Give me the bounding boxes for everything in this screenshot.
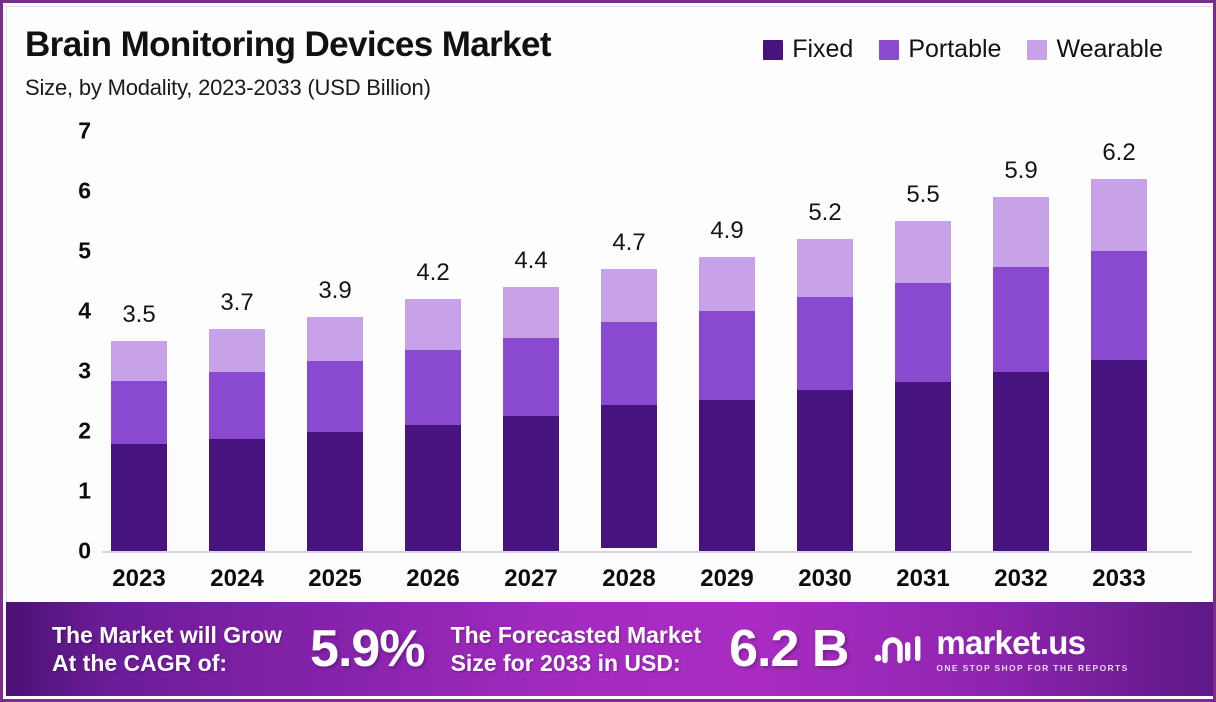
bar-segment-wearable[interactable]: [797, 239, 853, 297]
bar-group-2032[interactable]: 5.92032: [993, 551, 1049, 609]
bar-stack[interactable]: [307, 317, 363, 551]
bar-segment-fixed[interactable]: [405, 425, 461, 551]
legend-item-fixed[interactable]: Fixed: [763, 35, 853, 64]
bar-value-label: 5.5: [906, 181, 939, 209]
bar-value-label: 5.2: [808, 199, 841, 227]
bar-value-label: 4.7: [612, 229, 645, 257]
y-axis-tick-1: 1: [51, 478, 91, 505]
bar-value-label: 5.9: [1004, 157, 1037, 185]
bar-stack[interactable]: [1091, 179, 1147, 551]
bar-segment-wearable[interactable]: [503, 287, 559, 338]
chart-plot-area: 01234567 3.520233.720243.920254.220264.4…: [7, 115, 1216, 609]
bar-segment-portable[interactable]: [209, 372, 265, 439]
bar-group-2028[interactable]: 4.72028: [601, 551, 657, 609]
bar-value-label: 4.2: [416, 259, 449, 287]
bar-segment-portable[interactable]: [405, 350, 461, 425]
bar-segment-fixed[interactable]: [895, 382, 951, 551]
x-axis-tick-2031: 2031: [896, 565, 949, 593]
bar-group-2023[interactable]: 3.52023: [111, 551, 167, 609]
bar-segment-fixed[interactable]: [307, 432, 363, 551]
bar-segment-wearable[interactable]: [111, 341, 167, 381]
chart-legend: FixedPortableWearable: [763, 35, 1163, 64]
chart-header: Brain Monitoring Devices Market Size, by…: [7, 7, 1215, 115]
legend-item-wearable[interactable]: Wearable: [1027, 35, 1163, 64]
bar-group-2025[interactable]: 3.92025: [307, 551, 363, 609]
bar-group-2024[interactable]: 3.72024: [209, 551, 265, 609]
forecast-size-label: The Forecasted Market Size for 2033 in U…: [451, 621, 702, 677]
y-axis-tick-5: 5: [51, 238, 91, 265]
x-axis-tick-2032: 2032: [994, 565, 1047, 593]
bar-segment-portable[interactable]: [601, 322, 657, 405]
bar-stack[interactable]: [111, 341, 167, 551]
y-axis-tick-7: 7: [51, 118, 91, 145]
bar-segment-wearable[interactable]: [993, 197, 1049, 267]
bar-stack[interactable]: [405, 299, 461, 551]
bar-value-label: 3.7: [220, 289, 253, 317]
chart-card: Brain Monitoring Devices Market Size, by…: [6, 6, 1216, 608]
bar-stack[interactable]: [993, 197, 1049, 551]
bar-value-label: 6.2: [1102, 139, 1135, 167]
brand-text: market.us ONE STOP SHOP FOR THE REPORTS: [936, 626, 1128, 673]
y-axis-tick-3: 3: [51, 358, 91, 385]
x-axis-tick-2030: 2030: [798, 565, 851, 593]
x-axis-tick-2023: 2023: [112, 565, 165, 593]
bar-stack[interactable]: [797, 239, 853, 551]
bar-segment-wearable[interactable]: [1091, 179, 1147, 251]
legend-label: Wearable: [1056, 35, 1163, 64]
legend-swatch-fixed-icon: [763, 40, 783, 60]
y-axis-tick-4: 4: [51, 298, 91, 325]
legend-swatch-wearable-icon: [1027, 40, 1047, 60]
y-axis-tick-0: 0: [51, 538, 91, 565]
bar-group-2030[interactable]: 5.22030: [797, 551, 853, 609]
bar-stack[interactable]: [699, 257, 755, 551]
brand-logo[interactable]: market.us ONE STOP SHOP FOR THE REPORTS: [874, 626, 1128, 673]
bar-segment-fixed[interactable]: [699, 400, 755, 551]
bar-group-2031[interactable]: 5.52031: [895, 551, 951, 609]
bar-segment-portable[interactable]: [993, 267, 1049, 372]
y-axis-tick-2: 2: [51, 418, 91, 445]
bar-segment-wearable[interactable]: [405, 299, 461, 350]
bar-segment-portable[interactable]: [503, 338, 559, 416]
bar-segment-portable[interactable]: [111, 381, 167, 444]
bar-value-label: 4.4: [514, 247, 547, 275]
brand-tagline: ONE STOP SHOP FOR THE REPORTS: [936, 663, 1128, 673]
bar-segment-wearable[interactable]: [601, 269, 657, 322]
bar-stack[interactable]: [895, 221, 951, 551]
page-title: Brain Monitoring Devices Market: [25, 25, 551, 65]
bar-segment-portable[interactable]: [1091, 251, 1147, 360]
bar-group-2026[interactable]: 4.22026: [405, 551, 461, 609]
bar-value-label: 3.9: [318, 277, 351, 305]
x-axis-tick-2033: 2033: [1092, 565, 1145, 593]
bar-segment-wearable[interactable]: [895, 221, 951, 283]
bar-value-label: 3.5: [122, 301, 155, 329]
bar-segment-portable[interactable]: [797, 297, 853, 390]
bar-segment-wearable[interactable]: [307, 317, 363, 361]
legend-swatch-portable-icon: [879, 40, 899, 60]
bar-segment-fixed[interactable]: [1091, 360, 1147, 551]
x-axis-tick-2028: 2028: [602, 565, 655, 593]
x-axis-tick-2024: 2024: [210, 565, 263, 593]
bar-stack[interactable]: [503, 287, 559, 551]
bar-segment-fixed[interactable]: [797, 390, 853, 551]
legend-item-portable[interactable]: Portable: [879, 35, 1001, 64]
x-axis-tick-2029: 2029: [700, 565, 753, 593]
y-axis-tick-6: 6: [51, 178, 91, 205]
bar-stack[interactable]: [209, 329, 265, 551]
bar-group-2033[interactable]: 6.22033: [1091, 551, 1147, 609]
chart-subtitle: Size, by Modality, 2023-2033 (USD Billio…: [25, 75, 431, 101]
bar-segment-portable[interactable]: [895, 283, 951, 382]
bar-segment-fixed[interactable]: [993, 372, 1049, 551]
bar-stack[interactable]: [601, 269, 657, 551]
x-axis-tick-2026: 2026: [406, 565, 459, 593]
bar-segment-fixed[interactable]: [209, 439, 265, 551]
bar-group-2029[interactable]: 4.92029: [699, 551, 755, 609]
cagr-label: The Market will Grow At the CAGR of:: [52, 621, 282, 677]
bar-segment-portable[interactable]: [307, 361, 363, 432]
bar-segment-portable[interactable]: [699, 311, 755, 400]
bar-segment-fixed[interactable]: [601, 405, 657, 548]
market-us-logo-icon: [874, 627, 926, 672]
footer-summary-bar: The Market will Grow At the CAGR of: 5.9…: [6, 602, 1216, 696]
brand-name: market.us: [936, 626, 1128, 659]
x-axis-tick-2027: 2027: [504, 565, 557, 593]
bar-segment-fixed[interactable]: [503, 416, 559, 551]
bar-group-2027[interactable]: 4.42027: [503, 551, 559, 609]
bar-segment-wearable[interactable]: [209, 329, 265, 372]
cagr-value: 5.9%: [310, 619, 425, 679]
legend-label: Portable: [908, 35, 1001, 64]
x-axis-tick-2025: 2025: [308, 565, 361, 593]
legend-label: Fixed: [792, 35, 853, 64]
bar-segment-wearable[interactable]: [699, 257, 755, 311]
forecast-size-value: 6.2 B: [729, 619, 848, 679]
bar-value-label: 4.9: [710, 217, 743, 245]
infographic-root: Brain Monitoring Devices Market Size, by…: [0, 0, 1216, 702]
bar-segment-fixed[interactable]: [111, 444, 167, 551]
